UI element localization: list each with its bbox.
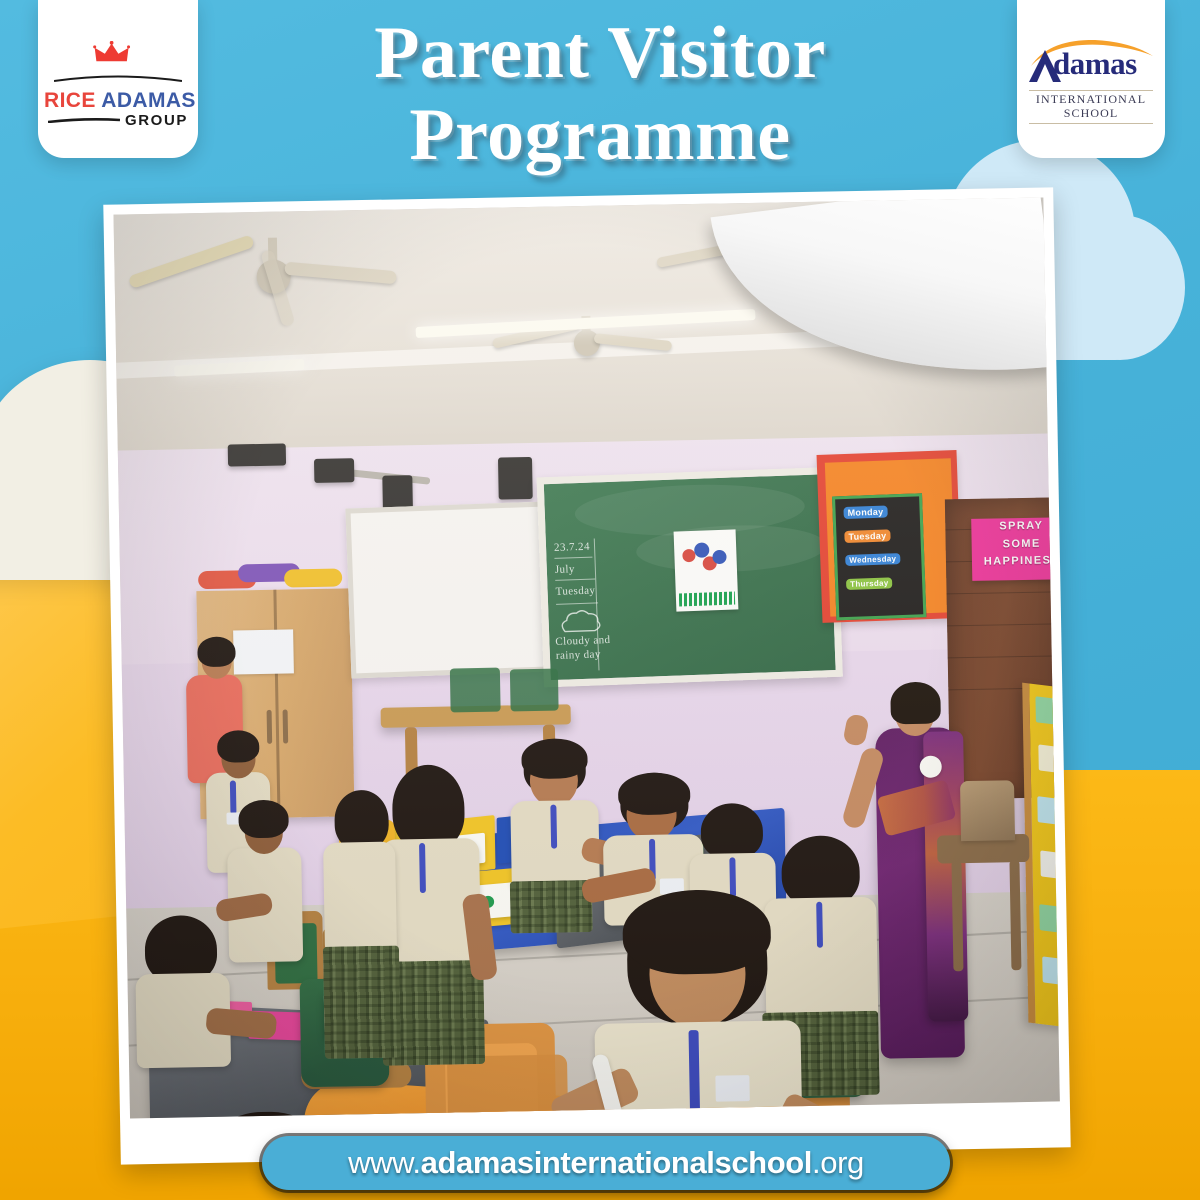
spray-line-2: SOME xyxy=(972,535,1060,554)
teacher-figure xyxy=(864,669,989,1071)
adamas-wordmark: damas xyxy=(1053,48,1159,79)
rice-adamas-wordmark: RICE ADAMAS xyxy=(44,90,192,111)
paint-brush xyxy=(787,1109,816,1118)
student-standing xyxy=(320,789,403,1060)
website-url-text: www.adamasinternationalschool.org xyxy=(348,1145,864,1181)
day-label-tuesday: Tuesday xyxy=(844,529,890,543)
blackboard-artwork xyxy=(674,529,739,611)
blackboard: 23.7.24 July Tuesday Cloudy and rainy da… xyxy=(537,467,843,688)
projector xyxy=(314,458,354,483)
logo-word-rice: RICE xyxy=(44,89,96,112)
speaker xyxy=(498,457,533,500)
rice-adamas-logo-card[interactable]: RICE ADAMAS GROUP xyxy=(38,0,198,158)
title-line-1: Parent Visitor xyxy=(374,12,826,94)
url-domain: adamasinternationalschool xyxy=(421,1145,812,1180)
title-line-2: Programme xyxy=(230,98,970,172)
day-label-wednesday: Wednesday xyxy=(845,553,900,566)
logo-bottom-rule xyxy=(48,118,120,123)
day-label-monday: Monday xyxy=(843,505,887,519)
student-seated xyxy=(220,791,309,963)
spray-some-happiness-sign: SPRAY SOME HAPPINESS xyxy=(971,517,1060,581)
blackboard-weather: Cloudy and rainy day xyxy=(555,633,636,663)
logo-word-adamas: ADAMAS xyxy=(101,89,196,112)
blackboard-month: July xyxy=(555,563,575,577)
poster-canvas: Parent Visitor Programme RICE ADAMAS xyxy=(0,0,1200,1200)
chalk-cloud-icon xyxy=(558,608,603,636)
crown-icon xyxy=(93,41,144,63)
url-suffix: .org xyxy=(812,1145,864,1180)
classroom-activity-photo: 23.7.24 July Tuesday Cloudy and rainy da… xyxy=(113,198,1059,1119)
student-foreground-left xyxy=(134,915,233,1067)
days-list: Monday Tuesday Wednesday Thursday xyxy=(832,493,926,620)
blackboard-date: 23.7.24 xyxy=(554,541,590,556)
logo-divider-top xyxy=(1029,90,1153,91)
logo-divider-bottom xyxy=(1029,123,1153,124)
rice-adamas-group-logo: RICE ADAMAS GROUP xyxy=(44,41,192,129)
logo-sub-school: SCHOOL xyxy=(1023,107,1159,121)
adamas-international-school-logo: damas INTERNATIONAL SCHOOL xyxy=(1023,40,1159,126)
decor-statue xyxy=(960,780,1015,841)
blackboard-day: Tuesday xyxy=(555,584,595,599)
back-chair xyxy=(510,669,559,712)
logo-top-rule xyxy=(54,75,182,82)
adamas-logo-mark: damas xyxy=(1023,40,1159,88)
page-title: Parent Visitor Programme xyxy=(230,16,970,172)
ceiling-fan-icon xyxy=(172,236,383,310)
day-label-thursday: Thursday xyxy=(846,577,893,590)
url-prefix: www. xyxy=(348,1145,420,1180)
logo-sub-international: INTERNATIONAL xyxy=(1023,93,1159,107)
spray-line-1: SPRAY xyxy=(971,517,1060,536)
website-url-banner[interactable]: www.adamasinternationalschool.org xyxy=(262,1136,950,1190)
logo-word-group: GROUP xyxy=(125,112,188,129)
days-of-week-board: Monday Tuesday Wednesday Thursday xyxy=(817,450,963,623)
logo-bottom-row: GROUP xyxy=(48,112,188,129)
back-chair xyxy=(450,668,501,713)
adamas-school-logo-card[interactable]: damas INTERNATIONAL SCHOOL xyxy=(1017,0,1165,158)
classroom-photo-frame: 23.7.24 July Tuesday Cloudy and rainy da… xyxy=(103,187,1070,1164)
spray-line-3: HAPPINESS xyxy=(972,552,1060,571)
paper-rolls xyxy=(198,562,348,591)
ceiling-mount xyxy=(228,443,286,466)
